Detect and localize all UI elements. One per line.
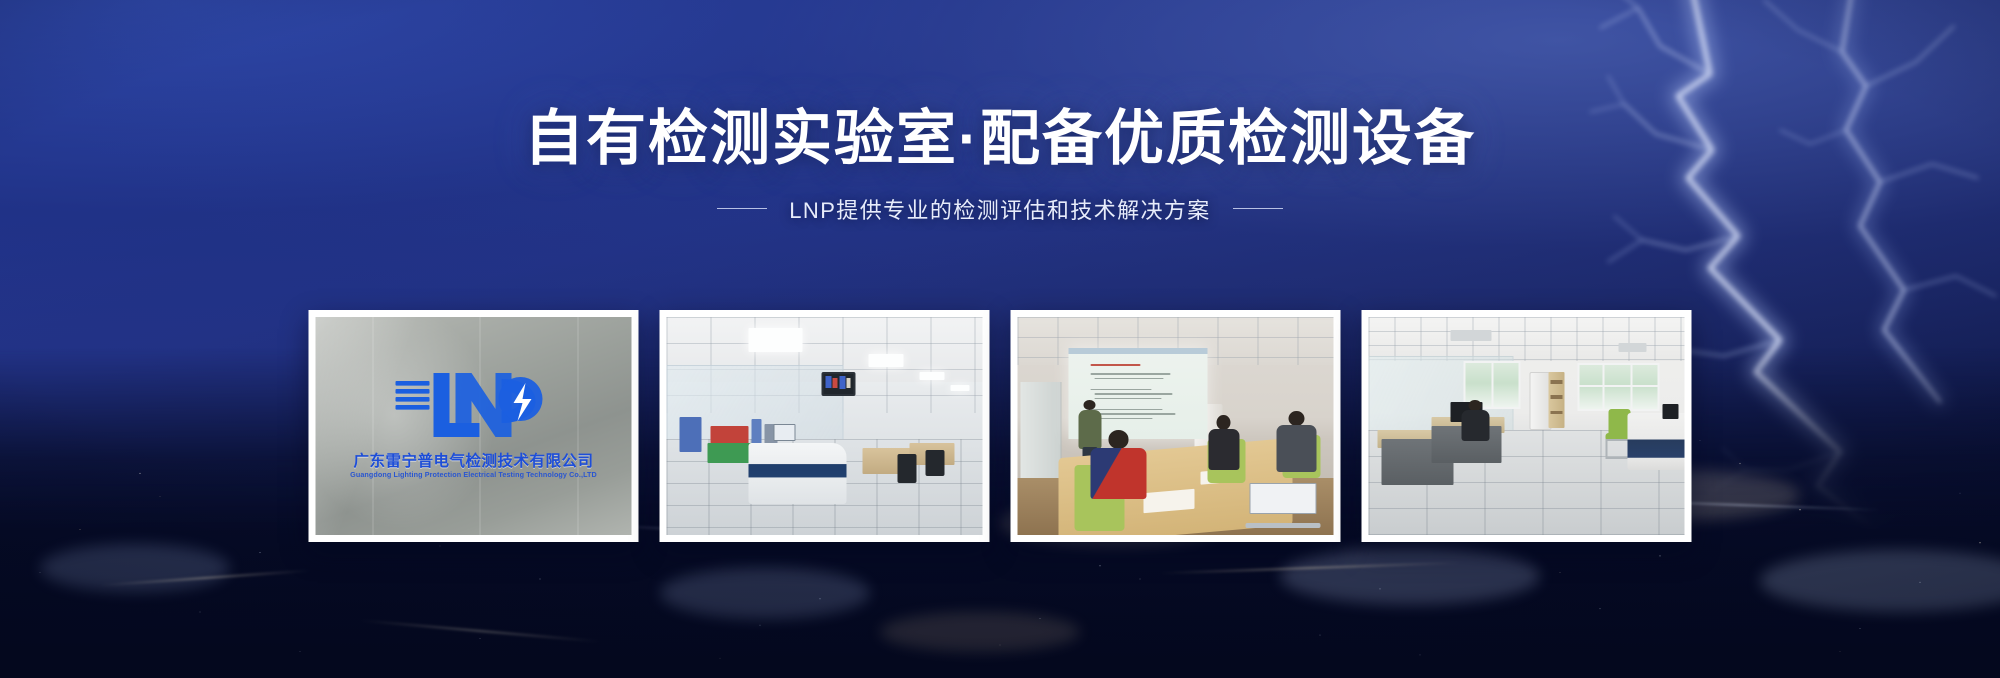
hero-subtitle-row: LNP提供专业的检测评估和技术解决方案 — [0, 193, 2000, 225]
control-console — [749, 443, 847, 504]
gallery-card-office-area[interactable] — [1362, 310, 1692, 542]
gallery-card-testing-laboratory[interactable] — [660, 310, 990, 542]
wall-seam — [372, 317, 373, 535]
ceiling-light-panel — [869, 354, 904, 367]
slide-line — [1094, 378, 1164, 379]
shelf-board — [1551, 395, 1563, 398]
page-title: 自有检测实验室·配备优质检测设备 — [0, 104, 2000, 175]
slide-line — [1090, 373, 1171, 374]
gallery-card-training-meeting-room[interactable] — [1011, 310, 1341, 542]
person-body — [1277, 425, 1316, 472]
seated-worker — [1460, 400, 1492, 448]
ceiling-light-panel — [919, 372, 944, 381]
office-chair — [926, 450, 945, 476]
ceiling-light-panel — [749, 328, 803, 352]
person-head — [1216, 415, 1230, 430]
photo-office-area — [1369, 317, 1685, 535]
slide-line — [1094, 413, 1175, 414]
test-rig — [679, 417, 701, 452]
room-door — [1021, 382, 1062, 487]
company-name-en: Guangdong Lighting Protection Electrical… — [350, 470, 597, 479]
hero-copy: 自有检测实验室·配备优质检测设备 LNP提供专业的检测评估和技术解决方案 — [0, 104, 2000, 225]
shelf-board — [1551, 411, 1563, 414]
laptop — [1245, 483, 1321, 531]
person-head — [1108, 430, 1128, 448]
person-head — [1084, 400, 1096, 410]
window-mullion — [1631, 363, 1633, 411]
window-mullion — [1492, 361, 1494, 409]
hero-subtitle: LNP提供专业的检测评估和技术解决方案 — [789, 193, 1210, 225]
divider-rule-right — [1233, 208, 1283, 209]
meeting-room-scene — [1018, 317, 1334, 535]
company-name-cn: 广东雷宁普电气检测技术有限公司 — [353, 449, 593, 471]
photo-gallery: 广东雷宁普电气检测技术有限公司 Guangdong Lighting Prote… — [309, 310, 1692, 542]
photo-testing-laboratory — [667, 317, 983, 535]
window-mullion — [1602, 363, 1604, 411]
laptop-keyboard — [1245, 523, 1321, 528]
photo-company-logo-wall: 广东雷宁普电气检测技术有限公司 Guangdong Lighting Prote… — [316, 317, 632, 535]
office-scene — [1369, 317, 1685, 535]
slide-heading — [1090, 364, 1140, 366]
slide-titlebar — [1068, 348, 1207, 354]
slide-line — [1094, 393, 1172, 394]
slide-line — [1090, 389, 1151, 390]
person-body — [1461, 410, 1489, 441]
office-chair — [897, 454, 916, 482]
person-body — [1208, 429, 1239, 470]
console-monitor — [774, 424, 796, 441]
window-mullion — [1577, 385, 1659, 387]
reception-monitor — [1662, 404, 1678, 419]
photo-training-meeting-room — [1018, 317, 1334, 535]
laptop-screen — [1250, 483, 1317, 515]
wall-monitor — [821, 372, 855, 396]
gallery-card-company-logo-wall[interactable]: 广东雷宁普电气检测技术有限公司 Guangdong Lighting Prote… — [309, 310, 639, 542]
person-body — [1090, 448, 1146, 500]
attendee-person — [1277, 411, 1318, 476]
ceiling-light-panel — [951, 385, 970, 392]
hero-banner: 自有检测实验室·配备优质检测设备 LNP提供专业的检测评估和技术解决方案 — [0, 0, 2000, 678]
attendee-person — [1207, 415, 1242, 474]
shelf-board — [1551, 380, 1563, 383]
divider-rule-left — [717, 208, 767, 209]
office-ceiling-grid — [1369, 317, 1685, 361]
reception-counter — [1628, 413, 1685, 470]
ceiling-vent — [1451, 330, 1492, 341]
lab-scene — [667, 317, 983, 535]
wall-seam — [578, 317, 579, 535]
person-head — [1288, 411, 1304, 427]
window — [1577, 363, 1659, 411]
attendee-person — [1090, 430, 1150, 526]
ceiling-vent — [1618, 343, 1646, 352]
lnp-logo-icon — [390, 367, 558, 441]
